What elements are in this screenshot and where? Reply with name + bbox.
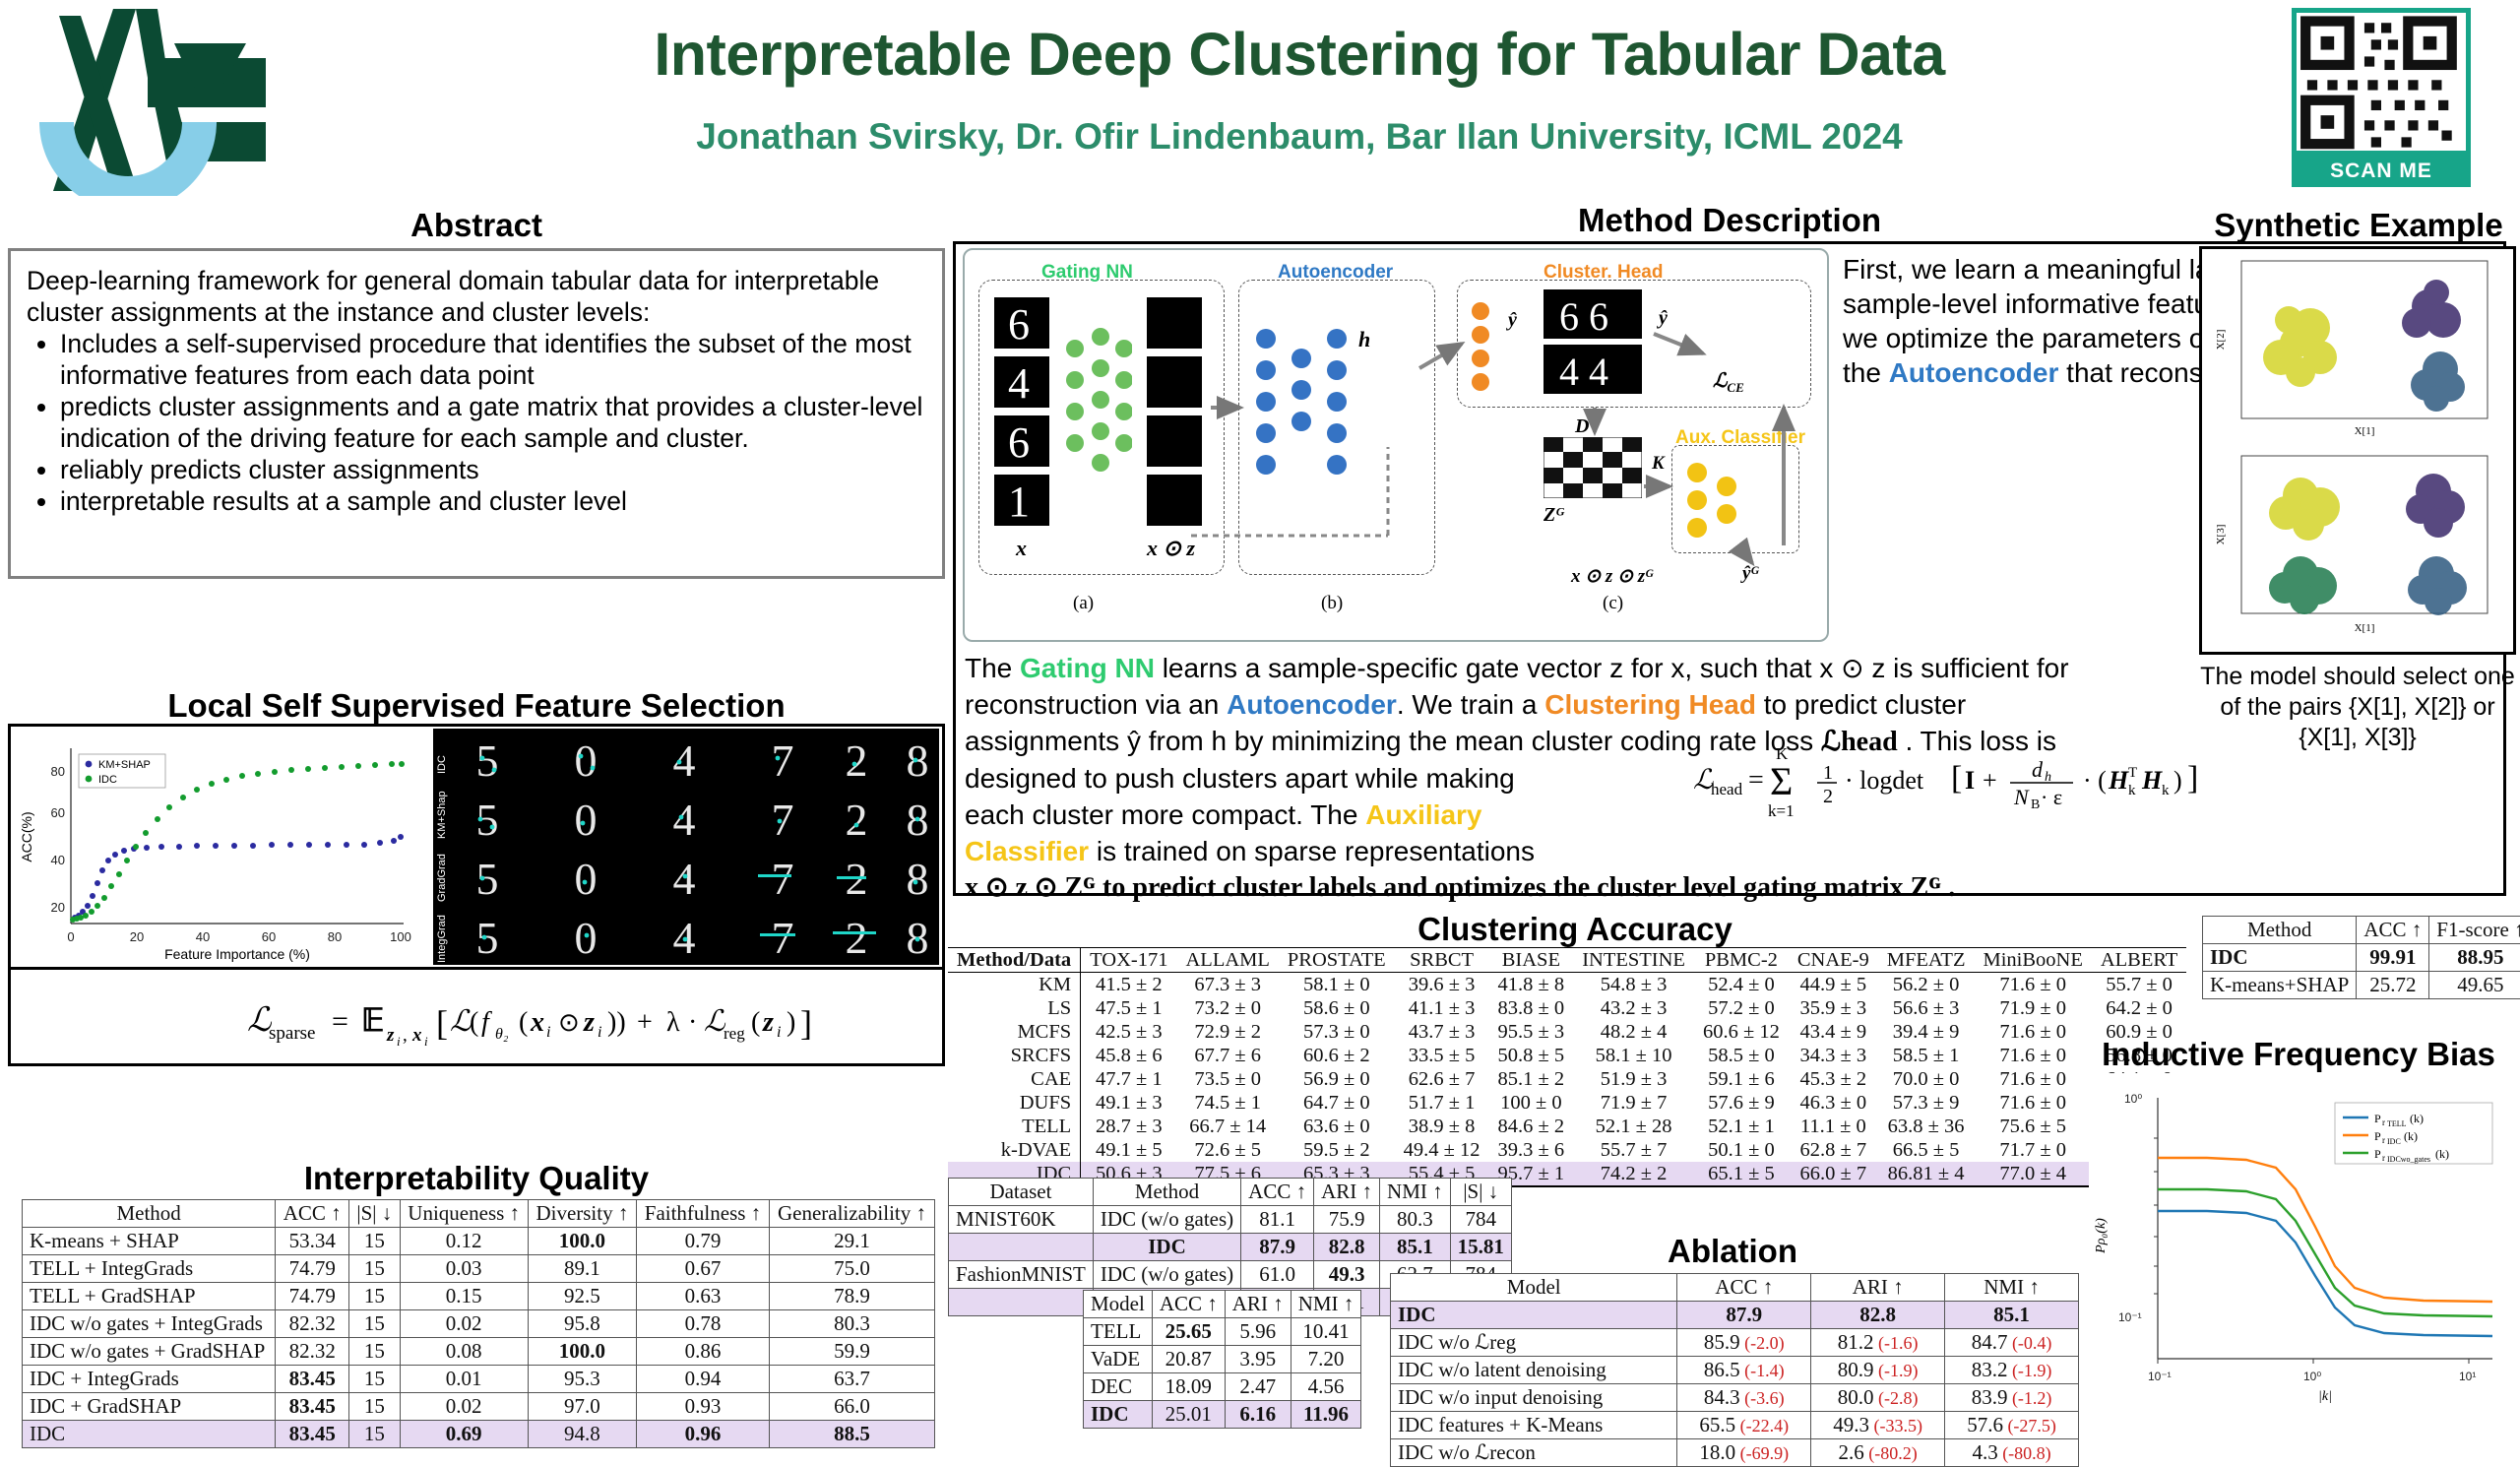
column-header: Generalizability ↑ <box>769 1200 934 1228</box>
svg-text:7: 7 <box>772 735 794 786</box>
table-cell: 0.79 <box>636 1228 769 1255</box>
column-header: CNAE-9 <box>1789 948 1878 973</box>
gating-network-nodes <box>1061 319 1132 506</box>
svg-text:head: head <box>1711 780 1743 798</box>
table-cell: 15 <box>349 1310 400 1338</box>
method-line-7: x ⊙ z ⊙ Zᴳ to predict cluster labels and… <box>965 869 2490 906</box>
table-cell: 47.5 ± 1 <box>1081 996 1177 1020</box>
table-cell: 15 <box>349 1228 400 1255</box>
table-row: IDC + IntegGrads83.45150.0195.30.9463.7 <box>23 1366 935 1393</box>
svg-text:4: 4 <box>673 854 696 904</box>
architecture-diagram: Gating NN 6 4 6 1 x x ⊙ z Autoencoder <box>963 248 1829 642</box>
table-cell: 52.1 ± 1 <box>1694 1115 1789 1138</box>
table-row: IDC25.016.1611.96 <box>1084 1401 1361 1429</box>
diagram-label-cluster-head: Cluster. Head <box>1543 262 1663 284</box>
table-cell: 49.3 (-33.5) <box>1811 1412 1945 1439</box>
input-digit: 1 <box>994 475 1049 526</box>
column-header: |S| ↓ <box>349 1200 400 1228</box>
svg-text:6 6: 6 6 <box>1559 294 1608 339</box>
abstract-bullets: Includes a self-supervised procedure tha… <box>27 328 926 517</box>
column-header: ALBERT <box>2092 948 2187 973</box>
table-row: MNIST60KIDC (w/o gates)81.175.980.3784 <box>949 1206 1512 1234</box>
table-cell: 0.93 <box>636 1393 769 1421</box>
table-cell <box>949 1289 1094 1316</box>
table-cell: 82.32 <box>276 1338 349 1366</box>
diagram-symbol-x: x <box>1016 536 1027 561</box>
legend-tell: P <box>2374 1112 2381 1125</box>
table-cell: 80.3 <box>1380 1206 1451 1234</box>
svg-text:r: r <box>2382 1135 2385 1145</box>
table-cell: 83.45 <box>276 1421 349 1448</box>
table-cell: 59.5 ± 2 <box>1279 1138 1395 1162</box>
table-row: TELL + IntegGrads74.79150.0389.10.6775.0 <box>23 1255 935 1283</box>
table-cell: 65.5 (-22.4) <box>1677 1412 1811 1439</box>
column-header: ACC ↑ <box>1677 1274 1811 1302</box>
mb2a: reconstruction via an <box>965 689 1227 720</box>
table-cell: 0.96 <box>636 1421 769 1448</box>
table-cell: 0.08 <box>400 1338 528 1366</box>
table-cell: IDC w/o gates + GradSHAP <box>23 1338 276 1366</box>
table-cell: 56.9 ± 0 <box>1279 1067 1395 1091</box>
table-cell: 81.1 <box>1241 1206 1314 1234</box>
table-cell: 71.6 ± 0 <box>1974 1044 2091 1067</box>
svg-text:[: [ <box>436 1003 448 1043</box>
table-cell: 67.7 ± 6 <box>1177 1044 1279 1067</box>
svg-text:k=1: k=1 <box>1768 801 1795 820</box>
table-cell: 0.02 <box>400 1310 528 1338</box>
table-cell: 5.96 <box>1225 1318 1291 1346</box>
table-row: IDC features + K-Means65.5 (-22.4)49.3 (… <box>1391 1412 2079 1439</box>
table-cell: 100 ± 0 <box>1489 1091 1574 1115</box>
table-cell: IDC <box>23 1421 276 1448</box>
svg-text:H: H <box>2141 766 2163 795</box>
table-cell: 43.2 ± 3 <box>1573 996 1694 1020</box>
svg-text:(: ( <box>751 1007 760 1038</box>
table-cell: 83.2 (-1.9) <box>1945 1357 2079 1384</box>
table-cell: IDC (w/o gates) <box>1093 1261 1240 1289</box>
table-cell: 50.1 ± 0 <box>1694 1138 1789 1162</box>
svg-text:k: k <box>2128 783 2136 798</box>
table-cell: 55.7 ± 0 <box>2092 973 2187 997</box>
method-line-6: Classifier is trained on sparse represen… <box>965 833 2490 869</box>
diagram-symbol-h: h <box>1358 327 1370 352</box>
table-cell: 63.6 ± 0 <box>1279 1115 1395 1138</box>
mb2e: to predict cluster <box>1756 689 1966 720</box>
page-title: Interpretable Deep Clustering for Tabula… <box>364 20 2235 89</box>
method-right-ae: Autoencoder <box>1889 357 2059 388</box>
table-cell: 46.3 ± 0 <box>1789 1091 1878 1115</box>
svg-text:N: N <box>2013 785 2030 809</box>
column-header: PROSTATE <box>1279 948 1395 973</box>
table-cell: IDC + GradSHAP <box>23 1393 276 1421</box>
synthetic-bottom-xlabel: X[1] <box>2355 622 2375 634</box>
table-row: KM41.5 ± 267.3 ± 358.1 ± 039.6 ± 341.8 ±… <box>948 973 2186 997</box>
table-cell: 0.86 <box>636 1338 769 1366</box>
column-header: Faithfulness ↑ <box>636 1200 769 1228</box>
table-cell: 72.9 ± 2 <box>1177 1020 1279 1044</box>
column-header: ACC ↑ <box>1241 1179 1314 1206</box>
table-cell: 80.9 (-1.9) <box>1811 1357 1945 1384</box>
digit-visualization-grid: 504728 504728 504728 504728 IDC KM+Shap … <box>433 729 939 965</box>
svg-text:·: · <box>688 1007 697 1038</box>
gated-digit <box>1147 415 1202 467</box>
table-row: IDC w/o latent denoising86.5 (-1.4)80.9 … <box>1391 1357 2079 1384</box>
svg-text:5: 5 <box>476 735 499 786</box>
svg-text:r: r <box>2382 1117 2385 1127</box>
table-cell: 49.65 <box>2429 972 2520 999</box>
svg-text:2: 2 <box>846 795 868 845</box>
table-cell: k-DVAE <box>948 1138 1081 1162</box>
svg-text:7: 7 <box>772 795 794 845</box>
table-cell: 72.6 ± 5 <box>1177 1138 1279 1162</box>
table-row: k-DVAE49.1 ± 572.6 ± 559.5 ± 249.4 ± 123… <box>948 1138 2186 1162</box>
input-digit: 6 <box>994 415 1049 467</box>
svg-text:θ₂: θ₂ <box>495 1026 509 1043</box>
table-cell: 83.45 <box>276 1366 349 1393</box>
table-row: VaDE20.873.957.20 <box>1084 1346 1361 1373</box>
poster-root: Interpretable Deep Clustering for Tabula… <box>0 0 2520 1418</box>
table-cell: 25.72 <box>2357 972 2429 999</box>
svg-text:7: 7 <box>772 854 794 904</box>
column-header: ALLAML <box>1177 948 1279 973</box>
table-cell: 2.6 (-80.2) <box>1811 1439 1945 1467</box>
svg-text:(: ( <box>519 1007 528 1038</box>
column-header: ARI ↑ <box>1811 1274 1945 1302</box>
mb5b: Auxiliary <box>1365 799 1481 830</box>
table-cell: 42.5 ± 3 <box>1081 1020 1177 1044</box>
table-cell: 58.1 ± 10 <box>1573 1044 1694 1067</box>
table-cell: 97.0 <box>528 1393 636 1421</box>
table-cell: K-means + SHAP <box>23 1228 276 1255</box>
column-header: Diversity ↑ <box>528 1200 636 1228</box>
svg-text:5: 5 <box>476 854 499 904</box>
table-cell: 0.78 <box>636 1310 769 1338</box>
inductive-section-title: Inductive Frequency Bias <box>2077 1036 2520 1073</box>
local-fs-section-title: Local Self Supervised Feature Selection <box>8 687 945 725</box>
table-cell: 15 <box>349 1366 400 1393</box>
table-cell: 45.8 ± 6 <box>1081 1044 1177 1067</box>
column-header: Method <box>1093 1179 1240 1206</box>
column-header: F1-score ↑ <box>2429 917 2520 944</box>
svg-text:8: 8 <box>907 854 929 904</box>
table-row: LS47.5 ± 173.2 ± 058.6 ± 041.1 ± 383.8 ±… <box>948 996 2186 1020</box>
table-cell: 87.9 <box>1241 1234 1314 1261</box>
svg-text:⊙: ⊙ <box>558 1008 580 1037</box>
table-cell: 78.9 <box>769 1283 934 1310</box>
clustering-accuracy-table: Method/DataTOX-171ALLAMLPROSTATESRBCTBIA… <box>948 947 2186 1187</box>
abstract-section-title: Abstract <box>8 207 945 244</box>
table-cell: 11.96 <box>1291 1401 1361 1429</box>
inductive-frequency-chart: 10⁰ 10⁻¹ 10⁻¹ 10⁰ 10¹ |k| Pρ₀(k) <box>2089 1073 2512 1413</box>
table-cell: 64.2 ± 0 <box>2092 996 2187 1020</box>
table-cell: 85.9 (-2.0) <box>1677 1329 1811 1357</box>
svg-text:z: z <box>762 1007 774 1038</box>
table-header-row: MethodACC ↑F1-score ↑ <box>2203 917 2520 944</box>
table-cell: 92.5 <box>528 1283 636 1310</box>
table-cell: 100.0 <box>528 1228 636 1255</box>
table-row: TELL28.7 ± 366.7 ± 1463.6 ± 038.9 ± 884.… <box>948 1115 2186 1138</box>
column-header: MFEATZ <box>1878 948 1975 973</box>
table-cell: 71.6 ± 0 <box>1974 1091 2091 1115</box>
table-header-row: DatasetMethodACC ↑ARI ↑NMI ↑|S| ↓ <box>949 1179 1512 1206</box>
table-cell: 47.7 ± 1 <box>1081 1067 1177 1091</box>
column-header: Model <box>1391 1274 1677 1302</box>
table-cell: 60.6 ± 2 <box>1279 1044 1395 1067</box>
interpretability-section-title: Interpretability Quality <box>8 1160 945 1197</box>
table-cell: 75.6 ± 5 <box>1974 1115 2091 1138</box>
svg-text:4 4: 4 4 <box>1559 350 1608 394</box>
table-cell: 0.67 <box>636 1255 769 1283</box>
svg-text:6: 6 <box>1008 418 1030 467</box>
table-row: IDC87.982.885.115.81 <box>949 1234 1512 1261</box>
table-cell: 83.45 <box>276 1393 349 1421</box>
table-cell: 15 <box>349 1421 400 1448</box>
table-cell <box>949 1234 1094 1261</box>
diagram-symbol-ZG: Zᴳ <box>1543 504 1564 527</box>
svg-text:r: r <box>2382 1153 2385 1163</box>
table-cell: 43.7 ± 3 <box>1395 1020 1489 1044</box>
input-digit: 4 <box>994 356 1049 408</box>
svg-text:(k): (k) <box>2404 1129 2418 1143</box>
abstract-intro: Deep-learning framework for general doma… <box>27 265 926 328</box>
interpretability-table: MethodACC ↑|S| ↓Uniqueness ↑Diversity ↑F… <box>22 1199 935 1448</box>
svg-text:,: , <box>403 1025 408 1046</box>
table-cell: DUFS <box>948 1091 1081 1115</box>
svg-text:h: h <box>2045 770 2051 785</box>
table-row: DUFS49.1 ± 374.5 ± 164.7 ± 051.7 ± 1100 … <box>948 1091 2186 1115</box>
table-cell: 0.01 <box>400 1366 528 1393</box>
clustering-section-title: Clustering Accuracy <box>945 911 2205 948</box>
cluster-head-nodes <box>1465 297 1510 404</box>
table-cell: 53.34 <box>276 1228 349 1255</box>
table-cell: 63.7 <box>769 1366 934 1393</box>
svg-text:1: 1 <box>1008 478 1030 526</box>
svg-text:0: 0 <box>67 929 74 944</box>
svg-text:6: 6 <box>1008 300 1030 349</box>
table-cell: 6.16 <box>1225 1401 1291 1429</box>
table-cell: 0.69 <box>400 1421 528 1448</box>
ablation-table: ModelACC ↑ARI ↑NMI ↑ IDC87.982.885.1IDC … <box>1390 1273 2079 1467</box>
column-header: Model <box>1084 1291 1153 1318</box>
svg-text:i: i <box>546 1024 550 1041</box>
svg-text:[: [ <box>1951 760 1962 797</box>
table-cell: 57.6 (-27.5) <box>1945 1412 2079 1439</box>
qr-code[interactable]: SCAN ME <box>2292 8 2471 187</box>
svg-text:2: 2 <box>846 913 868 963</box>
table-cell: 62.6 ± 7 <box>1395 1067 1489 1091</box>
y-tick: 10⁰ <box>2124 1092 2142 1106</box>
table-cell: 28.7 ± 3 <box>1081 1115 1177 1138</box>
table-cell: 20.87 <box>1152 1346 1225 1373</box>
column-header: ACC ↑ <box>276 1200 349 1228</box>
input-digit: 6 <box>994 297 1049 349</box>
mb6b: is trained on sparse representations <box>1089 836 1535 866</box>
synthetic-caption: The model should select one of the pairs… <box>2199 662 2516 753</box>
svg-text:reg: reg <box>724 1024 745 1043</box>
table-row: IDC w/o ℒrecon18.0 (-69.9)2.6 (-80.2)4.3… <box>1391 1439 2079 1467</box>
diagram-symbol-y: ŷ <box>1659 307 1668 330</box>
svg-text:· ε: · ε <box>2041 785 2062 809</box>
svg-text:d: d <box>2032 757 2044 782</box>
table-cell: IDC + IntegGrads <box>23 1366 276 1393</box>
table-cell: 82.8 <box>1811 1302 1945 1329</box>
column-header: Method <box>2203 917 2357 944</box>
diagram-symbol-D: D <box>1575 415 1589 438</box>
svg-text:TELL: TELL <box>2387 1119 2407 1128</box>
table-row: SRCFS45.8 ± 667.7 ± 660.6 ± 233.5 ± 550.… <box>948 1044 2186 1067</box>
svg-text:=: = <box>1748 765 1764 796</box>
table-cell: 0.63 <box>636 1283 769 1310</box>
table-cell: FashionMNIST <box>949 1261 1094 1289</box>
table-cell: 75.0 <box>769 1255 934 1283</box>
column-header: Dataset <box>949 1179 1094 1206</box>
gated-digit <box>1147 297 1202 349</box>
svg-text:80: 80 <box>328 929 342 944</box>
table-cell: 41.5 ± 2 <box>1081 973 1177 997</box>
table-row: TELL + GradSHAP74.79150.1592.50.6378.9 <box>23 1283 935 1310</box>
table-cell: 35.9 ± 3 <box>1789 996 1878 1020</box>
y-axis-label: ACC(%) <box>19 811 34 861</box>
table-cell: 94.8 <box>528 1421 636 1448</box>
model-comparison-table: ModelACC ↑ARI ↑NMI ↑ TELL25.655.9610.41V… <box>1083 1290 1361 1429</box>
table-cell: 85.1 <box>1380 1234 1451 1261</box>
table-cell: 62.8 ± 7 <box>1789 1138 1878 1162</box>
table-cell: 52.4 ± 0 <box>1694 973 1789 997</box>
table-cell: 57.2 ± 0 <box>1694 996 1789 1020</box>
table-row: MCFS42.5 ± 372.9 ± 257.3 ± 043.7 ± 395.5… <box>948 1020 2186 1044</box>
svg-text:I: I <box>1965 766 1975 795</box>
table-cell: 77.0 ± 4 <box>1974 1162 2091 1186</box>
svg-text:(k): (k) <box>2410 1112 2424 1125</box>
x-tick: 10¹ <box>2459 1370 2476 1383</box>
table-row: K-means+SHAP25.7249.65 <box>2203 972 2520 999</box>
list-item: interpretable results at a sample and cl… <box>60 485 926 517</box>
table-cell: 71.9 ± 7 <box>1573 1091 1694 1115</box>
svg-text:i: i <box>397 1034 401 1049</box>
table-cell: 48.2 ± 4 <box>1573 1020 1694 1044</box>
table-cell: 0.03 <box>400 1255 528 1283</box>
table-cell: TELL + IntegGrads <box>23 1255 276 1283</box>
table-cell: 18.0 (-69.9) <box>1677 1439 1811 1467</box>
table-cell: 70.0 ± 0 <box>1878 1067 1975 1091</box>
table-cell: 34.3 ± 3 <box>1789 1044 1878 1067</box>
gated-digit <box>1147 356 1202 408</box>
table-row: IDC99.9188.95 <box>2203 944 2520 972</box>
table-cell: 49.3 <box>1314 1261 1380 1289</box>
svg-text:0: 0 <box>575 735 598 786</box>
table-cell: 88.95 <box>2429 944 2520 972</box>
column-header: NMI ↑ <box>1380 1179 1451 1206</box>
column-header: SRBCT <box>1395 948 1489 973</box>
autoencoder-nodes <box>1250 309 1427 526</box>
table-cell: 49.1 ± 5 <box>1081 1138 1177 1162</box>
ablation-section-title: Ablation <box>1496 1233 1969 1270</box>
table-cell: 58.6 ± 0 <box>1279 996 1395 1020</box>
column-header: TOX-171 <box>1081 948 1177 973</box>
table-cell: IDC <box>1093 1234 1240 1261</box>
table-cell: 41.8 ± 8 <box>1489 973 1574 997</box>
table-row: IDC w/o input denoising84.3 (-3.6)80.0 (… <box>1391 1384 2079 1412</box>
table-cell: 59.9 <box>769 1338 934 1366</box>
table-cell: 10.41 <box>1291 1318 1361 1346</box>
table-cell: IDC w/o input denoising <box>1391 1384 1677 1412</box>
legend-idc-wo: P <box>2374 1147 2381 1161</box>
svg-text:IDCwo_gates: IDCwo_gates <box>2387 1155 2430 1164</box>
mb2c: . We train a <box>1397 689 1544 720</box>
table-cell: DEC <box>1084 1373 1153 1401</box>
svg-text:4: 4 <box>673 795 696 845</box>
svg-text:𝔼: 𝔼 <box>361 1002 384 1038</box>
svg-text:5: 5 <box>476 913 499 963</box>
table-cell: TELL <box>1084 1318 1153 1346</box>
table-row: IDC w/o ℒreg85.9 (-2.0)81.2 (-1.6)84.7 (… <box>1391 1329 2079 1357</box>
svg-text:]: ] <box>2187 760 2198 797</box>
svg-text:Σ: Σ <box>1770 759 1793 803</box>
table-row: TELL25.655.9610.41 <box>1084 1318 1361 1346</box>
table-cell: 87.9 <box>1677 1302 1811 1329</box>
table-cell: 99.91 <box>2357 944 2429 972</box>
table-cell: 95.3 <box>528 1366 636 1393</box>
table-cell: 86.81 ± 4 <box>1878 1162 1975 1186</box>
mb1a: The <box>965 653 1020 683</box>
y-axis-label: Pρ₀(k) <box>2094 1218 2109 1254</box>
diagram-symbol-xzzg: x ⊙ z ⊙ zᴳ <box>1571 565 1653 588</box>
y-tick: 10⁻¹ <box>2118 1310 2142 1324</box>
table-cell: 74.2 ± 2 <box>1573 1162 1694 1186</box>
table-cell: 82.32 <box>276 1310 349 1338</box>
synthetic-top-ylabel: X[2] <box>2215 330 2227 351</box>
mb2b: Autoencoder <box>1227 689 1397 720</box>
table-cell: 7.20 <box>1291 1346 1361 1373</box>
table-cell: 83.9 (-1.2) <box>1945 1384 2079 1412</box>
svg-text:k: k <box>2162 783 2170 798</box>
table-cell: 88.5 <box>769 1421 934 1448</box>
table-cell: 51.7 ± 1 <box>1395 1091 1489 1115</box>
column-header: Method/Data <box>948 948 1081 973</box>
table-cell: 95.8 <box>528 1310 636 1338</box>
gate-matrix-checkerboard <box>1543 437 1642 498</box>
svg-text:2: 2 <box>1823 786 1833 807</box>
svg-text:B: B <box>2031 797 2040 812</box>
mb5a: each cluster more compact. The <box>965 799 1365 830</box>
table-cell: 71.6 ± 0 <box>1974 973 2091 997</box>
table-cell: IDC <box>1084 1401 1153 1429</box>
x-axis-label: |k| <box>2318 1389 2332 1404</box>
svg-text:IDC: IDC <box>2387 1137 2401 1146</box>
svg-text:4: 4 <box>1008 359 1030 408</box>
table-header-row: MethodACC ↑|S| ↓Uniqueness ↑Diversity ↑F… <box>23 1200 935 1228</box>
table-cell: IDC (w/o gates) <box>1093 1206 1240 1234</box>
table-cell: 50.8 ± 5 <box>1489 1044 1574 1067</box>
svg-text:x: x <box>530 1007 544 1038</box>
svg-text:i: i <box>598 1024 601 1041</box>
table-cell: 51.9 ± 3 <box>1573 1067 1694 1091</box>
synthetic-plots-box: X[1] X[2] X[1] X[3] <box>2199 246 2516 655</box>
table-cell: 71.6 ± 0 <box>1974 1020 2091 1044</box>
mb2d: Clustering Head <box>1544 689 1756 720</box>
table-cell: 55.7 ± 7 <box>1573 1138 1694 1162</box>
table-cell: 74.79 <box>276 1283 349 1310</box>
table-row: IDC + GradSHAP83.45150.0297.00.9366.0 <box>23 1393 935 1421</box>
table-cell: 57.3 ± 9 <box>1878 1091 1975 1115</box>
diagram-subcaption-b: (b) <box>1321 593 1343 614</box>
mb1c: learns a sample-specific gate vector z f… <box>1155 653 2069 683</box>
table-cell: IDC w/o ℒrecon <box>1391 1439 1677 1467</box>
svg-text:(k): (k) <box>2435 1147 2449 1161</box>
table-cell: 39.3 ± 6 <box>1489 1138 1574 1162</box>
table-row: K-means + SHAP53.34150.12100.00.7929.1 <box>23 1228 935 1255</box>
grid-row-label: GradGrad <box>436 854 448 902</box>
